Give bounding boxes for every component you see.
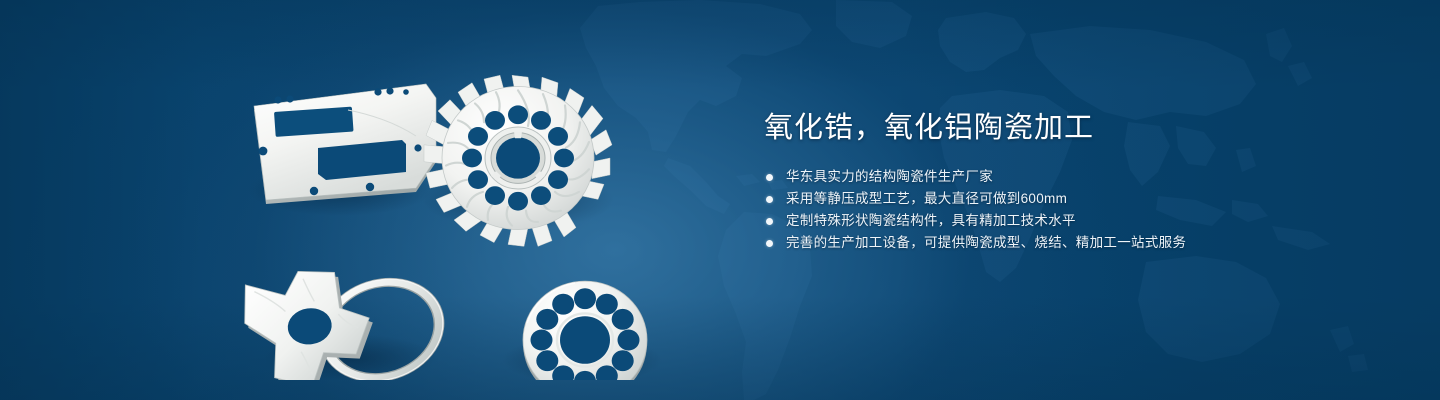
list-item-label: 华东具实力的结构陶瓷件生产厂家 xyxy=(786,169,993,184)
list-item-label: 定制特殊形状陶瓷结构件，具有精加工技术水平 xyxy=(786,213,1076,228)
bullet-dot-icon xyxy=(766,196,773,203)
banner-copy: 氧化锆，氧化铝陶瓷加工 华东具实力的结构陶瓷件生产厂家 采用等静压成型工艺，最大… xyxy=(764,108,1384,254)
list-item-label: 完善的生产加工设备，可提供陶瓷成型、烧结、精加工一站式服务 xyxy=(786,235,1186,250)
ceramic-products-photo-group xyxy=(230,40,690,380)
page-title: 氧化锆，氧化铝陶瓷加工 xyxy=(764,108,1384,148)
bullet-dot-icon xyxy=(766,218,773,225)
bullet-dot-icon xyxy=(766,240,773,247)
list-item: 采用等静压成型工艺，最大直径可做到600mm xyxy=(764,188,1384,210)
list-item: 定制特殊形状陶瓷结构件，具有精加工技术水平 xyxy=(764,210,1384,232)
list-item: 华东具实力的结构陶瓷件生产厂家 xyxy=(764,166,1384,188)
bullet-dot-icon xyxy=(766,174,773,181)
ceramic-machined-plate xyxy=(254,84,436,204)
ceramic-perforated-ring-disc xyxy=(523,281,647,380)
feature-list: 华东具实力的结构陶瓷件生产厂家 采用等静压成型工艺，最大直径可做到600mm 定… xyxy=(764,166,1384,254)
list-item: 完善的生产加工设备，可提供陶瓷成型、烧结、精加工一站式服务 xyxy=(764,232,1384,254)
list-item-label: 采用等静压成型工艺，最大直径可做到600mm xyxy=(786,191,1067,206)
hero-banner: 氧化锆，氧化铝陶瓷加工 华东具实力的结构陶瓷件生产厂家 采用等静压成型工艺，最大… xyxy=(0,0,1440,400)
